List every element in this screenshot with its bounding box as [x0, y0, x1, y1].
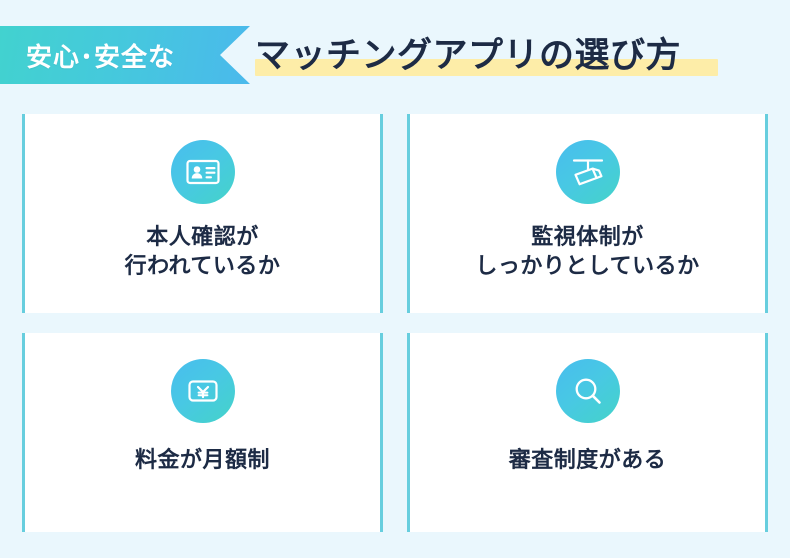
card-grid: 本人確認が 行われているか 監視体制が しっかりとしているか: [22, 114, 768, 532]
card-label: 本人確認が 行われているか: [125, 222, 281, 280]
ribbon-label: 安心･安全な: [0, 37, 175, 74]
header: 安心･安全な マッチングアプリの選び方: [0, 0, 790, 110]
page-title: マッチングアプリの選び方: [255, 38, 681, 73]
card-label: 審査制度がある: [509, 445, 667, 474]
card-monitoring-system[interactable]: 監視体制が しっかりとしているか: [407, 114, 768, 313]
card-identity-verification[interactable]: 本人確認が 行われているか: [22, 114, 383, 313]
card-monthly-fee[interactable]: 料金が月額制: [22, 333, 383, 532]
card-label: 料金が月額制: [135, 445, 270, 474]
title-container: マッチングアプリの選び方: [255, 26, 681, 84]
card-screening-system[interactable]: 審査制度がある: [407, 333, 768, 532]
infographic-root: 安心･安全な マッチングアプリの選び方 本人確認が 行われているか: [0, 0, 790, 558]
id-card-icon: [171, 140, 235, 204]
magnifier-icon: [556, 359, 620, 423]
security-camera-icon: [556, 140, 620, 204]
ribbon-banner: 安心･安全な: [0, 26, 250, 84]
card-label: 監視体制が しっかりとしているか: [475, 222, 699, 280]
yen-card-icon: [171, 359, 235, 423]
